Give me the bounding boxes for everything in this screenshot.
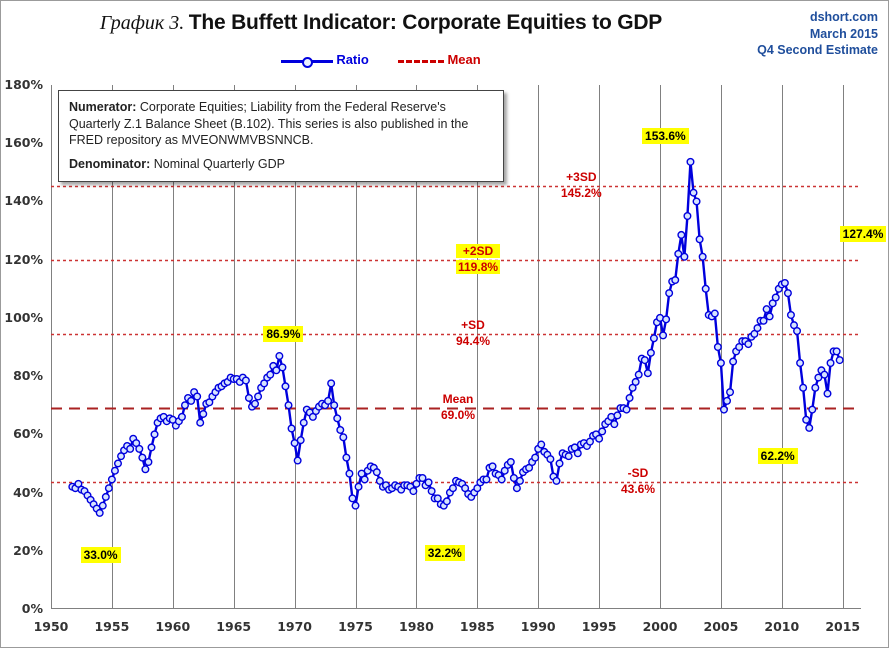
data-point [812,384,819,391]
data-point [498,476,505,483]
legend-item-ratio: Ratio [281,52,395,67]
data-point [547,456,554,463]
legend-ratio-swatch-icon [281,56,333,66]
data-point [727,389,734,396]
data-point [785,290,792,297]
y-axis-tick-label: 160% [0,135,43,150]
data-point [772,294,779,301]
reference-annotation-value: 145.2% [561,186,602,200]
reference-annotation-label: +2SD [456,244,500,258]
y-axis-tick-label: 140% [0,193,43,208]
data-point [803,416,810,423]
reference-annotation-label: Mean [441,392,475,406]
data-point [635,371,642,378]
data-point [355,483,362,490]
data-point [483,476,490,483]
y-axis-tick-label: 20% [0,543,43,558]
data-point [660,332,667,339]
data-point [112,467,119,474]
y-axis-tick-label: 180% [0,77,43,92]
data-point [721,406,728,413]
chart-number-label: График 3. [100,12,184,34]
reference-annotation-plus2sd: +2SD119.8% [456,244,500,274]
data-point [331,402,338,409]
data-point [246,395,253,402]
data-point [797,360,804,367]
data-callout: 33.0% [81,547,121,563]
data-point [343,454,350,461]
data-point [151,431,158,438]
data-point [349,495,356,502]
y-axis-tick-label: 40% [0,485,43,500]
page-title: The Buffett Indicator: Corporate Equitie… [189,11,662,34]
y-axis-tick-label: 120% [0,252,43,267]
data-point [836,357,843,364]
data-point [444,498,451,505]
x-axis-tick-label: 1980 [391,619,441,634]
data-point [188,398,195,405]
x-axis-tick-label: 2010 [757,619,807,634]
data-point [139,454,146,461]
data-callout: 62.2% [758,448,798,464]
note-denominator: Denominator: Nominal Quarterly GDP [69,156,493,173]
data-point [514,485,521,492]
data-point [800,384,807,391]
data-point [325,398,332,405]
data-point [425,479,432,486]
data-point [346,470,353,477]
data-point [575,450,582,457]
data-point [428,488,435,495]
data-point [824,390,831,397]
legend-ratio-label: Ratio [336,52,369,67]
data-callout: 32.2% [425,545,465,561]
data-point [276,353,283,360]
data-point [255,393,262,400]
note-denominator-text: Nominal Quarterly GDP [150,157,285,171]
y-axis-tick-label: 80% [0,368,43,383]
x-axis-tick-label: 1975 [331,619,381,634]
x-axis-tick-label: 1990 [513,619,563,634]
chart-legend: Ratio Mean [1,51,761,67]
data-point [663,316,670,323]
data-point [300,419,307,426]
data-point [833,348,840,355]
data-point [672,277,679,284]
data-point [294,457,301,464]
data-point [730,358,737,365]
x-axis-tick-label: 1995 [574,619,624,634]
data-point [200,411,207,418]
data-point [827,360,834,367]
data-point [352,502,359,509]
data-point [806,425,813,432]
note-box: Numerator: Corporate Equities; Liability… [58,90,504,182]
data-point [337,427,344,434]
data-point [285,402,292,409]
legend-mean-label: Mean [447,52,480,67]
data-point [766,313,773,320]
data-point [702,285,709,292]
reference-annotation-plus3sd: +3SD145.2% [561,170,602,200]
data-point [556,460,563,467]
data-point [788,312,795,319]
data-point [782,280,789,287]
x-axis-tick-label: 1950 [26,619,76,634]
note-denominator-label: Denominator: [69,157,150,171]
data-point [809,406,816,413]
data-point [115,460,122,467]
data-point [623,406,630,413]
source-estimate: Q4 Second Estimate [757,42,878,59]
data-point [96,510,103,517]
data-point [599,428,606,435]
data-point [684,213,691,220]
chart-title-block: График 3. The Buffett Indicator: Corpora… [1,11,761,35]
reference-annotation-label: +3SD [561,170,602,184]
y-axis-tick-label: 60% [0,426,43,441]
data-point [334,415,341,422]
data-point [419,475,426,482]
data-point [712,310,719,317]
data-point [693,198,700,205]
data-point [194,393,201,400]
data-point [642,357,649,364]
data-point [450,485,457,492]
data-point [328,380,335,387]
reference-annotation-minussd: -SD43.6% [621,466,655,496]
reference-annotation-mean: Mean69.0% [441,392,475,422]
data-point [715,344,722,351]
data-point [243,377,250,384]
data-point [760,318,767,325]
chart-screenshot: График 3. The Buffett Indicator: Corpora… [0,0,889,648]
x-axis-tick-label: 2005 [696,619,746,634]
x-axis-tick-label: 1970 [270,619,320,634]
data-point [532,454,539,461]
data-point [99,502,106,509]
data-point [681,253,688,260]
reference-annotation-plussd: +SD94.4% [456,318,490,348]
data-point [103,494,110,501]
legend-item-mean: Mean [398,52,480,67]
reference-annotation-value: 43.6% [621,482,655,496]
data-point [651,335,658,342]
data-point [517,478,524,485]
data-point [687,159,694,166]
data-point [763,306,770,313]
data-point [666,290,673,297]
data-point [340,434,347,441]
data-point [553,478,560,485]
data-point [648,350,655,357]
data-callout: 127.4% [840,226,887,242]
data-point [148,444,155,451]
data-point [565,453,572,460]
data-point [267,371,274,378]
data-callout: 86.9% [263,326,303,342]
data-point [142,466,149,473]
data-point [279,364,286,371]
data-point [538,441,545,448]
data-point [645,370,652,377]
data-point [282,383,289,390]
data-point [136,446,143,453]
data-point [718,360,725,367]
x-axis-tick-label: 2015 [818,619,868,634]
source-date: March 2015 [757,26,878,43]
reference-annotation-label: -SD [621,466,655,480]
data-point [754,325,761,332]
data-point [678,232,685,239]
data-point [699,253,706,260]
data-point [626,395,633,402]
data-point [724,398,731,405]
data-point [297,437,304,444]
source-credit-block: dshort.com March 2015 Q4 Second Estimate [757,9,878,59]
reference-annotation-value: 119.8% [456,260,500,274]
source-site: dshort.com [757,9,878,26]
data-point [145,459,152,466]
y-axis-tick-label: 100% [0,310,43,325]
data-point [696,236,703,243]
data-point [614,412,621,419]
reference-annotation-label: +SD [456,318,490,332]
data-point [106,485,113,492]
data-point [374,469,381,476]
data-point [632,379,639,386]
x-axis-tick-label: 1955 [87,619,137,634]
data-point [288,425,295,432]
data-callout: 153.6% [642,128,689,144]
data-point [690,189,697,196]
data-point [179,414,186,421]
data-point [197,419,204,426]
data-point [745,341,752,348]
note-numerator-label: Numerator: [69,100,136,114]
data-point [109,476,116,483]
note-numerator: Numerator: Corporate Equities; Liability… [69,99,493,149]
x-axis-tick-label: 1960 [148,619,198,634]
data-point [127,446,134,453]
data-point [611,421,618,428]
data-point [410,488,417,495]
data-point [821,371,828,378]
legend-mean-swatch-icon [398,56,444,66]
data-point [489,463,496,470]
x-axis-tick-label: 2000 [635,619,685,634]
x-axis-tick-label: 1965 [209,619,259,634]
data-point [361,476,368,483]
x-axis-tick-label: 1985 [452,619,502,634]
data-point [596,435,603,442]
data-point [794,328,801,335]
reference-annotation-value: 69.0% [441,408,475,422]
data-point [182,402,189,409]
y-axis-tick-label: 0% [0,601,43,616]
reference-annotation-value: 94.4% [456,334,490,348]
data-point [508,459,515,466]
data-point [252,400,259,407]
